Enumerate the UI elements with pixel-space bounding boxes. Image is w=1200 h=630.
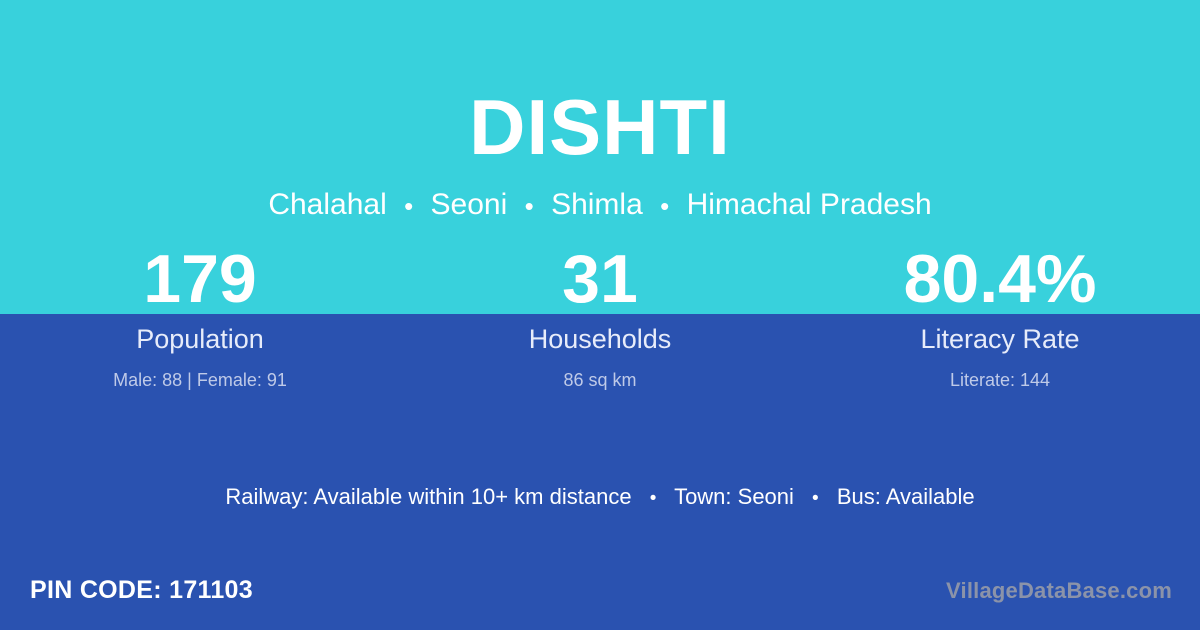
amenity-railway: Railway: Available within 10+ km distanc… (225, 484, 631, 509)
brand-watermark: VillageDataBase.com (946, 577, 1172, 605)
breadcrumb-item-district: Shimla (551, 188, 643, 221)
breadcrumb-separator-icon: • (651, 193, 678, 219)
breadcrumb-separator-icon: • (516, 193, 543, 219)
stat-label-literacy-rate: Literacy Rate (800, 326, 1200, 353)
card-header: DISHTI Chalahal • Seoni • Shimla • Himac… (0, 0, 1200, 220)
stat-households: 31 Households 86 sq km (400, 243, 800, 389)
card-footer: PIN CODE: 171103 VillageDataBase.com (0, 575, 1200, 615)
page-title: DISHTI (0, 0, 1200, 166)
stat-population: 179 Population Male: 88 | Female: 91 (0, 243, 400, 389)
breadcrumb: Chalahal • Seoni • Shimla • Himachal Pra… (0, 166, 1200, 220)
stat-sub-literacy-rate: Literate: 144 (800, 371, 1200, 389)
stat-value-population: 179 (0, 243, 400, 315)
stat-value-literacy-rate: 80.4% (800, 243, 1200, 315)
stat-label-households: Households (400, 326, 800, 353)
amenity-separator-icon: • (800, 489, 831, 508)
amenities-line: Railway: Available within 10+ km distanc… (0, 486, 1200, 508)
amenity-bus: Bus: Available (837, 484, 975, 509)
stats-row: 179 Population Male: 88 | Female: 91 31 … (0, 243, 1200, 389)
amenity-separator-icon: • (638, 489, 669, 508)
breadcrumb-separator-icon: • (395, 193, 422, 219)
amenity-town: Town: Seoni (674, 484, 794, 509)
stat-value-households: 31 (400, 243, 800, 315)
breadcrumb-item-state: Himachal Pradesh (687, 188, 932, 221)
stat-label-population: Population (0, 326, 400, 353)
breadcrumb-item-village: Chalahal (268, 188, 386, 221)
stat-sub-households: 86 sq km (400, 371, 800, 389)
breadcrumb-item-subdistrict: Seoni (431, 188, 508, 221)
stat-literacy-rate: 80.4% Literacy Rate Literate: 144 (800, 243, 1200, 389)
stat-sub-population: Male: 88 | Female: 91 (0, 371, 400, 389)
village-info-card: DISHTI Chalahal • Seoni • Shimla • Himac… (0, 0, 1200, 630)
pin-code: PIN CODE: 171103 (30, 575, 253, 605)
